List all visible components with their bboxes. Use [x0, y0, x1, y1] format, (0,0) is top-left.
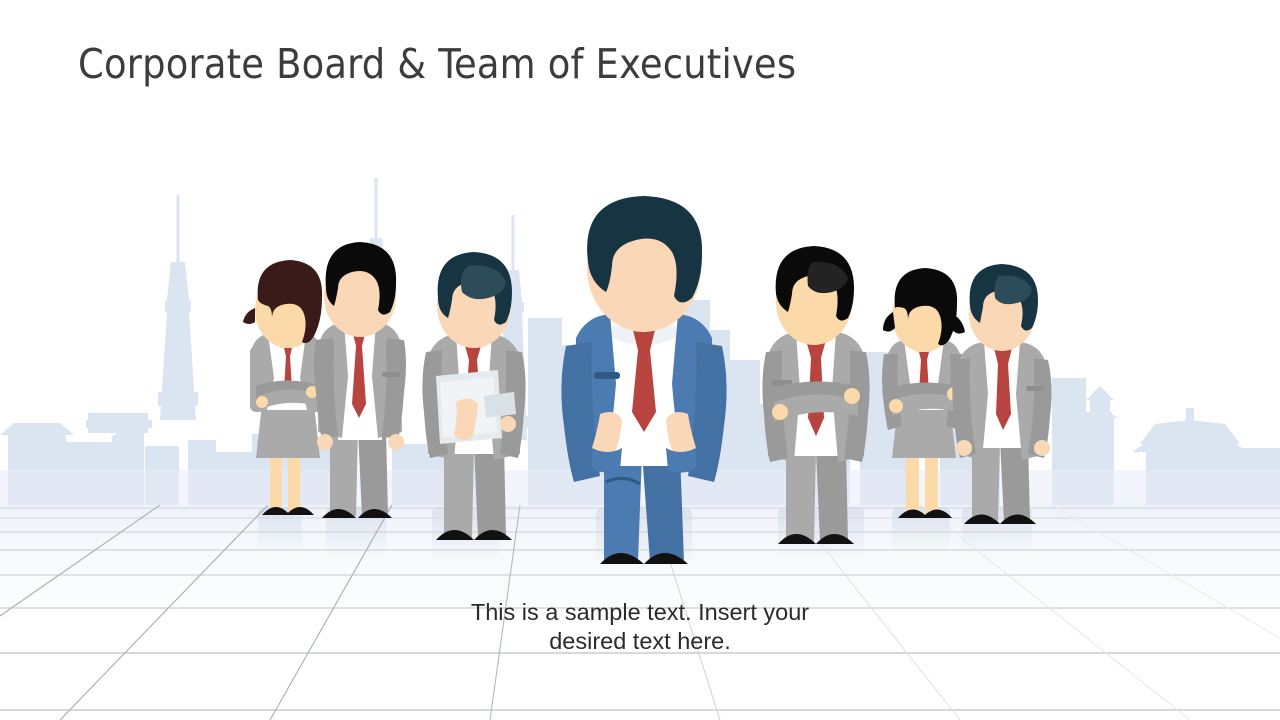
figure-executive-leader-blue-suit [561, 196, 726, 564]
leg-left [786, 450, 816, 542]
leg-right [288, 452, 300, 514]
hand-right [500, 416, 516, 432]
leg-left [330, 430, 358, 516]
hair-side-strand-right [952, 314, 965, 334]
jacket-pocket [1026, 386, 1044, 391]
jacket-pocket [594, 372, 620, 379]
hand-left [956, 440, 972, 456]
caption-line-2: desired text here. [390, 627, 890, 656]
leg-right [816, 450, 848, 542]
leg-left [906, 452, 919, 516]
hair-side-strand [243, 308, 255, 324]
slide-canvas: Corporate Board & Team of Executives Thi… [0, 0, 1280, 720]
figure-executive-man-teal-hair-right [952, 264, 1051, 524]
caption-line-1: This is a sample text. Insert your [471, 599, 809, 625]
figure-executive-man-with-document [422, 252, 525, 540]
leg-right [358, 430, 388, 516]
leg-left [270, 452, 282, 514]
hand-right [388, 434, 404, 450]
hand-right [772, 404, 788, 420]
hand-right [889, 399, 903, 413]
shoe-left [262, 507, 290, 515]
jacket-pocket [382, 372, 400, 377]
hand-right [256, 396, 268, 408]
figure-executive-man-black-hair-right [762, 246, 869, 544]
figure-executive-man-black-hair-left [314, 242, 406, 518]
hand-left [317, 434, 333, 450]
caption-text: This is a sample text. Insert your desir… [390, 598, 890, 656]
hand-left [844, 388, 860, 404]
hand-right [1034, 440, 1050, 456]
leg-right [925, 452, 938, 516]
hair-side-strand-left [883, 312, 895, 332]
figure-executive-woman-brown-hair [243, 260, 324, 515]
page-title: Corporate Board & Team of Executives [78, 40, 796, 89]
